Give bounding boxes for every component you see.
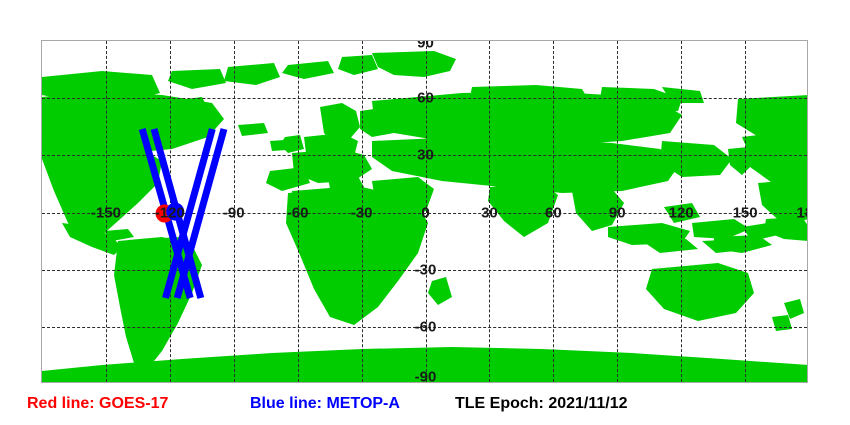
lon-tick--90: -90 <box>223 205 245 220</box>
lat-tick--90: -90 <box>415 370 437 384</box>
legend-blue-line-metopa: Blue line: METOP-A <box>250 396 400 412</box>
lon-tick-90: 90 <box>609 205 626 220</box>
lat-tick--60: -60 <box>415 319 437 334</box>
lat-tick--30: -30 <box>415 262 437 277</box>
chart-legend: Red line: GOES-17 Blue line: METOP-A TLE… <box>0 396 850 420</box>
lon-tick--30: -30 <box>351 205 373 220</box>
lon-tick--120: -120 <box>155 205 185 220</box>
lon-tick-180: 180 <box>796 205 808 220</box>
lon-tick-0: 0 <box>421 205 429 220</box>
lon-tick-150: 150 <box>733 205 758 220</box>
lat-tick-30: 30 <box>417 148 434 163</box>
lon-tick--60: -60 <box>287 205 309 220</box>
lon-tick-60: 60 <box>545 205 562 220</box>
lon-tick-120: 120 <box>669 205 694 220</box>
lat-tick-90: 90 <box>417 40 434 51</box>
legend-red-line-goes17: Red line: GOES-17 <box>27 396 168 412</box>
legend-tle-epoch: TLE Epoch: 2021/11/12 <box>455 396 628 412</box>
lon-tick--150: -150 <box>91 205 121 220</box>
world-map-plot: 90 60 30 0 -30 -60 -90 -30 0 30 60 90 12… <box>41 40 808 383</box>
lat-tick-60: 60 <box>417 91 434 106</box>
lon-tick-30: 30 <box>481 205 498 220</box>
